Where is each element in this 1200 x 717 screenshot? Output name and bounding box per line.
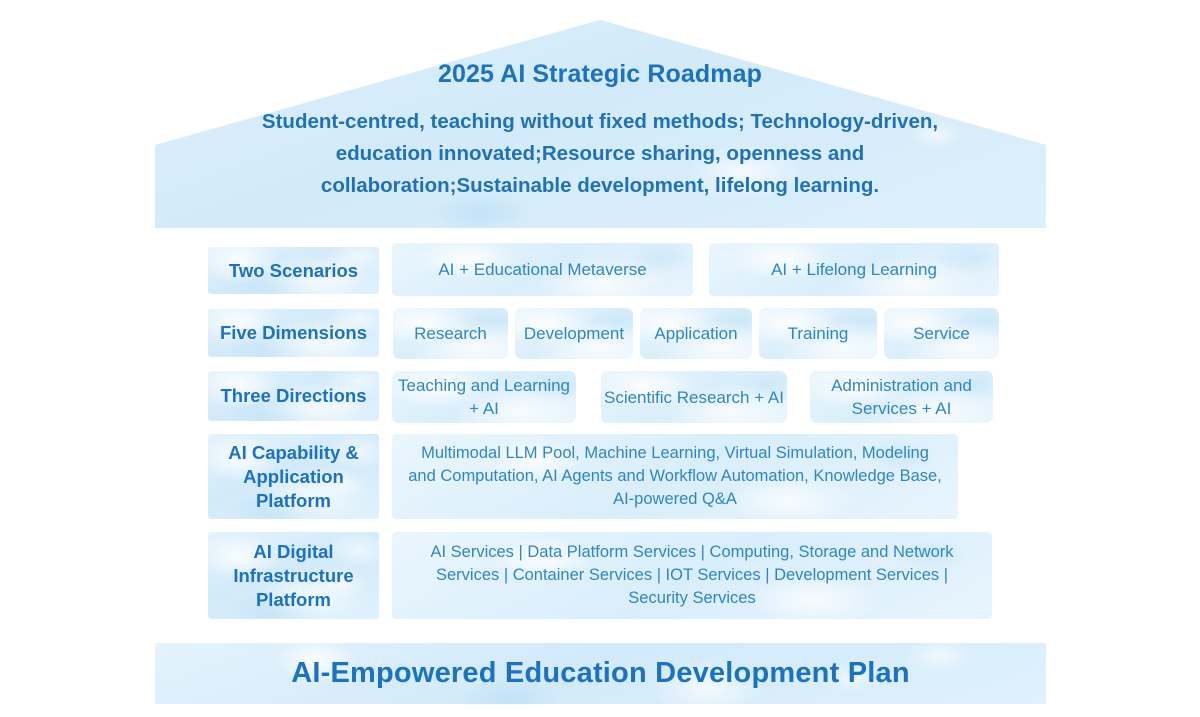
roof-subtitle: Student-centred, teaching without fixed … bbox=[250, 106, 950, 202]
roadmap-diagram: 2025 AI Strategic Roadmap Student-centre… bbox=[0, 0, 1200, 717]
footer-banner: AI-Empowered Education Development Plan bbox=[155, 643, 1046, 704]
row-label-five-dimensions[interactable]: Five Dimensions bbox=[208, 309, 379, 357]
item-infrastructure-services[interactable]: AI Services | Data Platform Services | C… bbox=[392, 532, 992, 619]
item-ai-capability-components[interactable]: Multimodal LLM Pool, Machine Learning, V… bbox=[392, 434, 958, 519]
item-teaching-and-learning-ai[interactable]: Teaching and Learning + AI bbox=[392, 371, 576, 423]
footer-title: AI-Empowered Education Development Plan bbox=[291, 657, 910, 690]
item-scientific-research-ai[interactable]: Scientific Research + AI bbox=[601, 371, 787, 423]
item-research[interactable]: Research bbox=[393, 308, 508, 359]
item-ai-educational-metaverse[interactable]: AI + Educational Metaverse bbox=[392, 243, 693, 296]
item-service[interactable]: Service bbox=[884, 308, 999, 359]
row-label-three-directions[interactable]: Three Directions bbox=[208, 371, 379, 421]
item-application[interactable]: Application bbox=[640, 308, 752, 359]
roof-content: 2025 AI Strategic Roadmap Student-centre… bbox=[0, 0, 1200, 232]
item-ai-lifelong-learning[interactable]: AI + Lifelong Learning bbox=[709, 243, 999, 296]
row-label-two-scenarios[interactable]: Two Scenarios bbox=[208, 247, 379, 294]
item-administration-and-services-ai[interactable]: Administration and Services + AI bbox=[810, 371, 993, 423]
item-training[interactable]: Training bbox=[759, 308, 877, 359]
page-title: 2025 AI Strategic Roadmap bbox=[438, 60, 762, 89]
row-label-ai-digital-infrastructure-platform[interactable]: AI Digital Infrastructure Platform bbox=[208, 532, 379, 619]
item-development[interactable]: Development bbox=[515, 308, 633, 359]
row-label-ai-capability-platform[interactable]: AI Capability & Application Platform bbox=[208, 434, 379, 519]
